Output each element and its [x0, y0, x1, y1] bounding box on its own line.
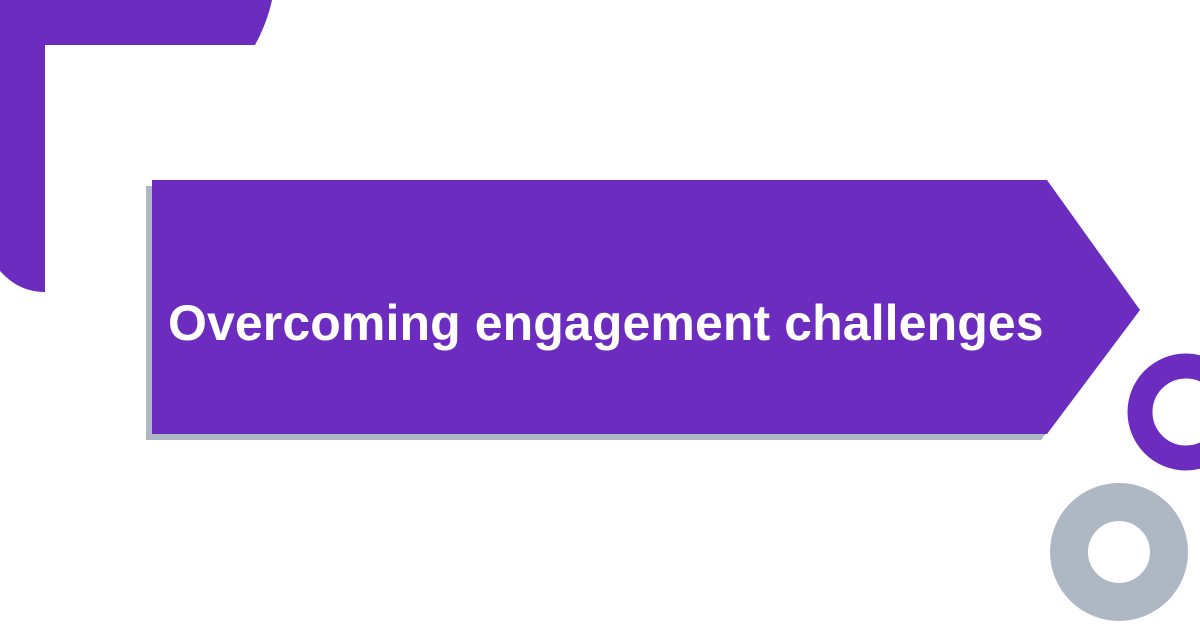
poster-canvas: Overcoming engagement challenges: [0, 0, 1200, 630]
decorative-rings-group: [0, 0, 1200, 630]
purple-ring-icon: [1140, 366, 1200, 458]
gray-ring-icon: [1069, 502, 1169, 602]
